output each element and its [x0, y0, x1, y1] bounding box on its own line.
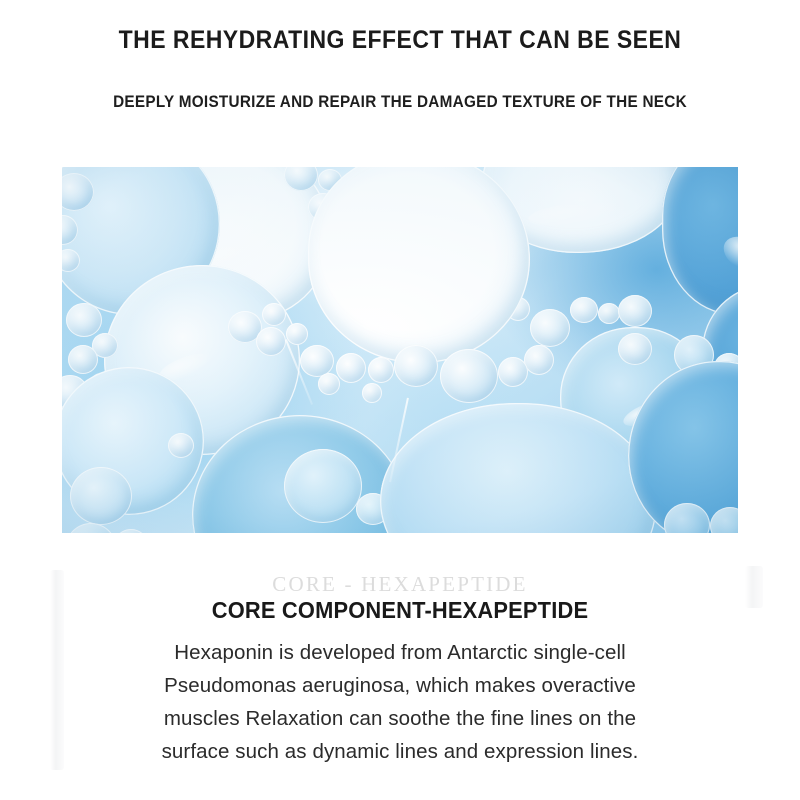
bubble-row-small-9: [440, 349, 498, 403]
bubble-row-small-10: [498, 357, 528, 387]
bubble-mid-small-5: [524, 345, 554, 375]
body-line-4: surface such as dynamic lines and expres…: [100, 735, 700, 768]
body-line-2: Pseudomonas aeruginosa, which makes over…: [100, 669, 700, 702]
page-title: THE REHYDRATING EFFECT THAT CAN BE SEEN: [32, 26, 768, 55]
bubble-row-small-11: [318, 373, 340, 395]
hero-bubbles-image: [62, 167, 738, 533]
bubble-mid-small-1: [530, 309, 570, 347]
bubble-row-small-6: [336, 353, 366, 383]
body-line-3: muscles Relaxation can soothe the fine l…: [100, 702, 700, 735]
product-detail-page: THE REHYDRATING EFFECT THAT CAN BE SEEN …: [0, 0, 800, 800]
bubble-row-small-12: [362, 383, 382, 403]
bubble-mid-small-3: [598, 303, 620, 324]
bubble-mid-small-4: [618, 295, 652, 327]
bubble-cluster-left-3: [68, 345, 98, 374]
bubble-mid-small-2: [570, 297, 598, 323]
core-section-title: CORE COMPONENT-HEXAPEPTIDE: [20, 597, 780, 624]
bubble-row-small-2: [262, 303, 286, 326]
core-eyebrow-label: CORE - HEXAPEPTIDE: [0, 572, 800, 597]
bubble-row-small-3: [256, 327, 286, 356]
bubble-lower-mid-small-1: [284, 449, 362, 523]
bubble-lower-left-small-1: [70, 467, 132, 525]
bubble-lower-mid-small-3: [168, 433, 194, 458]
bubble-row-small-4: [286, 323, 308, 345]
body-line-1: Hexaponin is developed from Antarctic si…: [100, 636, 700, 669]
bubble-row-small-7: [368, 357, 394, 383]
bubble-white-center: [308, 167, 530, 363]
page-subtitle: DEEPLY MOISTURIZE AND REPAIR THE DAMAGED…: [40, 92, 760, 112]
core-section-body: Hexaponin is developed from Antarctic si…: [100, 636, 700, 768]
bubble-row-small-8: [394, 345, 438, 387]
bubble-right-cluster-1: [618, 333, 652, 365]
bubble-cluster-left-1: [66, 303, 102, 337]
